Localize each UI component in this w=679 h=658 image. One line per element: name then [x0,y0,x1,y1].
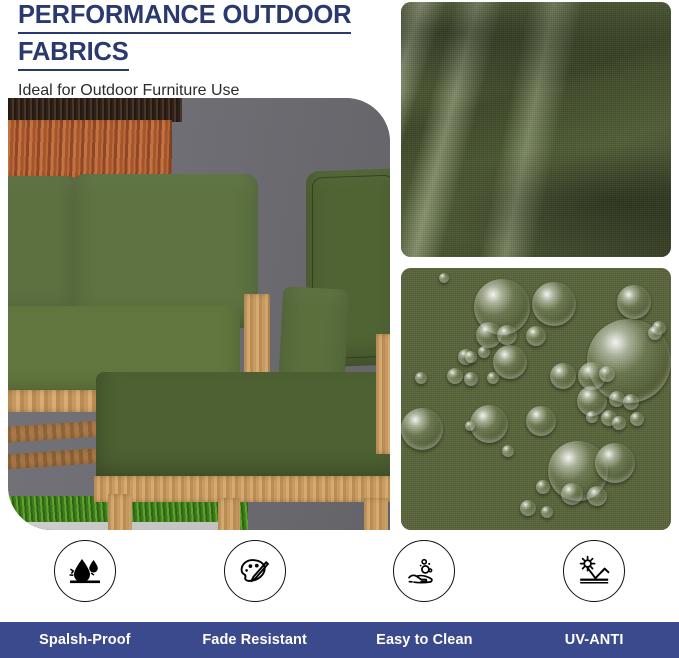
water-droplet [464,372,478,386]
page-title: PERFORMANCE OUTDOOR FABRICS [18,0,390,71]
water-droplet [497,325,517,345]
photo-wood-rail-right [94,476,390,502]
water-droplet [401,408,443,450]
water-droplet [447,368,463,384]
photo-back-cushion-center [74,174,258,328]
water-droplet [550,363,576,389]
photo-back-cushion-left [8,176,78,324]
water-droplet [465,351,477,363]
fabric-weave-texture [401,2,671,257]
water-droplet [470,405,508,443]
water-droplet [617,285,651,319]
water-droplet [623,394,639,410]
feature-label-fade-resistant: Fade Resistant [170,632,340,648]
feature-label-bar: Spalsh-Proof Fade Resistant Easy to Clea… [0,622,679,658]
water-droplet [532,282,576,326]
sun-uv-reflect-icon [563,540,625,602]
water-droplet [587,486,607,506]
water-droplet [415,372,427,384]
feature-label-uv-anti: UV-ANTI [509,632,679,648]
photo-wood-panel [8,120,172,182]
water-drop-splash-icon [54,540,116,602]
water-droplet [595,443,635,483]
draped-fabric-swatch [401,2,671,257]
water-droplet [439,273,449,283]
photo-wood-leg-a [108,494,132,530]
photo-seat-cushion-right [96,372,390,488]
feature-icon-row [0,536,679,622]
feature-fade-resistant [170,536,340,622]
water-droplet [465,421,475,431]
water-droplet [536,480,550,494]
water-droplet [541,506,553,518]
feature-label-easy-to-clean: Easy to Clean [340,632,510,648]
water-droplet [648,326,662,340]
photo-wood-leg-c [364,498,388,530]
photo-dark-slat-screen [8,98,182,122]
water-droplet [487,372,499,384]
photo-wood-post-b [376,334,390,454]
hero-product-photo [8,98,390,530]
water-droplet [526,406,556,436]
water-droplet [586,411,598,423]
header: PERFORMANCE OUTDOOR FABRICS Ideal for Ou… [18,0,390,101]
feature-uv-anti [509,536,679,622]
water-droplets-layer [401,268,671,530]
feature-easy-to-clean [340,536,510,622]
hand-with-bubbles-icon [393,540,455,602]
paint-palette-icon [224,540,286,602]
water-droplet [502,445,514,457]
water-droplet [561,483,583,505]
water-droplet [526,326,546,346]
water-droplet [612,416,626,430]
product-feature-banner: PERFORMANCE OUTDOOR FABRICS Ideal for Ou… [0,0,679,658]
water-droplet [599,366,615,382]
page-title-line-1: PERFORMANCE OUTDOOR [18,0,351,34]
water-droplet [520,500,536,516]
photo-wood-leg-b [218,498,240,530]
feature-splash-proof [0,536,170,622]
water-beading-swatch [401,268,671,530]
water-droplet [630,412,644,426]
page-title-line-2: FABRICS [18,37,129,71]
feature-label-splash-proof: Spalsh-Proof [0,632,170,648]
water-droplet [478,346,490,358]
